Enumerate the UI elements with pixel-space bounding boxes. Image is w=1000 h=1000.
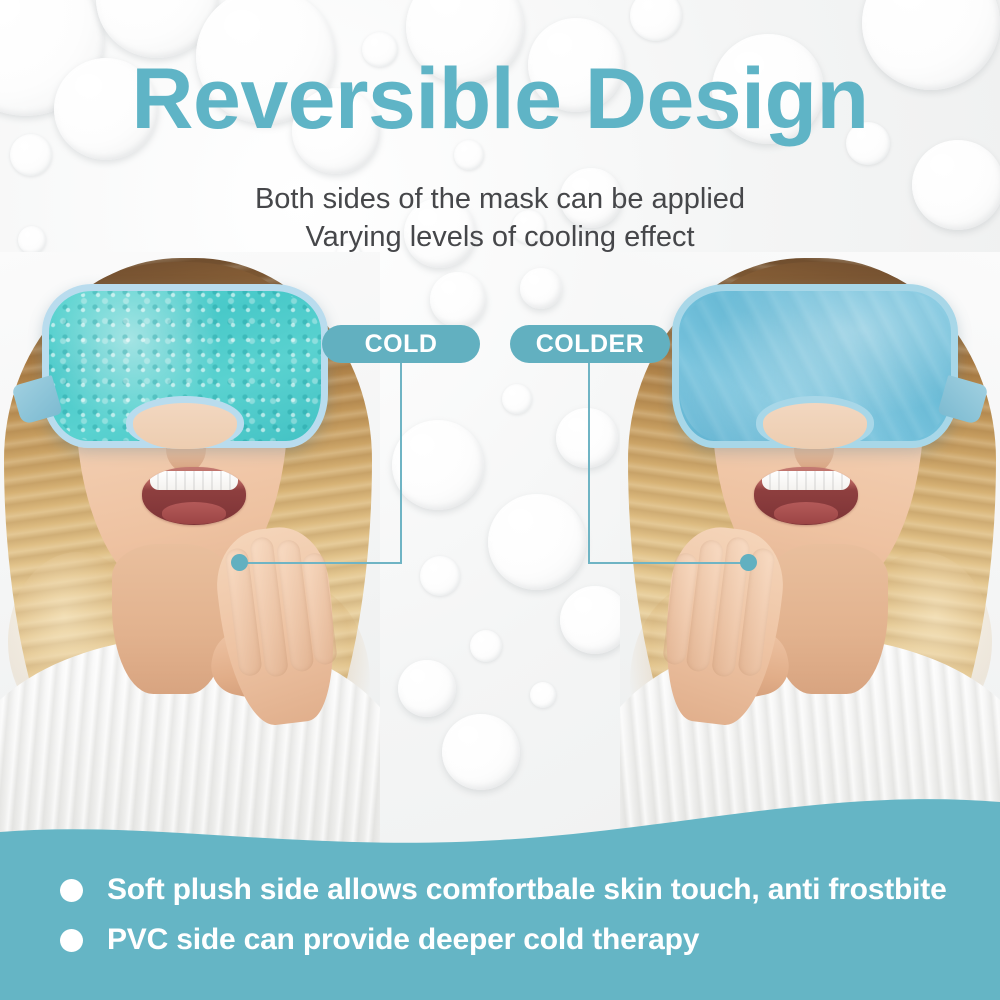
list-item: Soft plush side allows comfortbale skin … xyxy=(60,872,960,908)
connector-line-colder-vertical xyxy=(588,362,590,563)
bullet-dot-icon xyxy=(60,929,83,952)
feature-list: Soft plush side allows comfortbale skin … xyxy=(60,872,960,958)
connector-line-cold-vertical xyxy=(400,362,402,563)
page-subtitle: Both sides of the mask can be applied Va… xyxy=(0,180,1000,256)
subtitle-line-2: Varying levels of cooling effect xyxy=(0,218,1000,256)
photo-right-plush-mask xyxy=(620,252,1000,852)
mouth xyxy=(754,467,858,525)
bullet-dot-icon xyxy=(60,879,83,902)
teeth xyxy=(150,471,238,490)
connector-line-colder-horizontal xyxy=(588,562,746,564)
teeth xyxy=(762,471,850,490)
connector-dot-cold xyxy=(231,554,248,571)
subtitle-line-1: Both sides of the mask can be applied xyxy=(0,180,1000,218)
badge-cold[interactable]: COLD xyxy=(322,325,480,363)
tongue xyxy=(774,502,838,524)
tongue xyxy=(162,502,226,524)
list-item: PVC side can provide deeper cold therapy xyxy=(60,922,960,958)
feature-text: PVC side can provide deeper cold therapy xyxy=(107,922,699,958)
mouth xyxy=(142,467,246,525)
badge-colder[interactable]: COLDER xyxy=(510,325,670,363)
feature-text: Soft plush side allows comfortbale skin … xyxy=(107,872,947,908)
page-title: Reversible Design xyxy=(0,56,1000,142)
gel-bead-eye-mask xyxy=(42,284,328,448)
connector-line-cold-horizontal xyxy=(244,562,402,564)
plush-eye-mask xyxy=(672,284,958,448)
connector-dot-colder xyxy=(740,554,757,571)
product-infographic: Reversible Design Both sides of the mask… xyxy=(0,0,1000,1000)
mask-nose-notch xyxy=(126,396,244,449)
mask-nose-notch xyxy=(756,396,874,449)
